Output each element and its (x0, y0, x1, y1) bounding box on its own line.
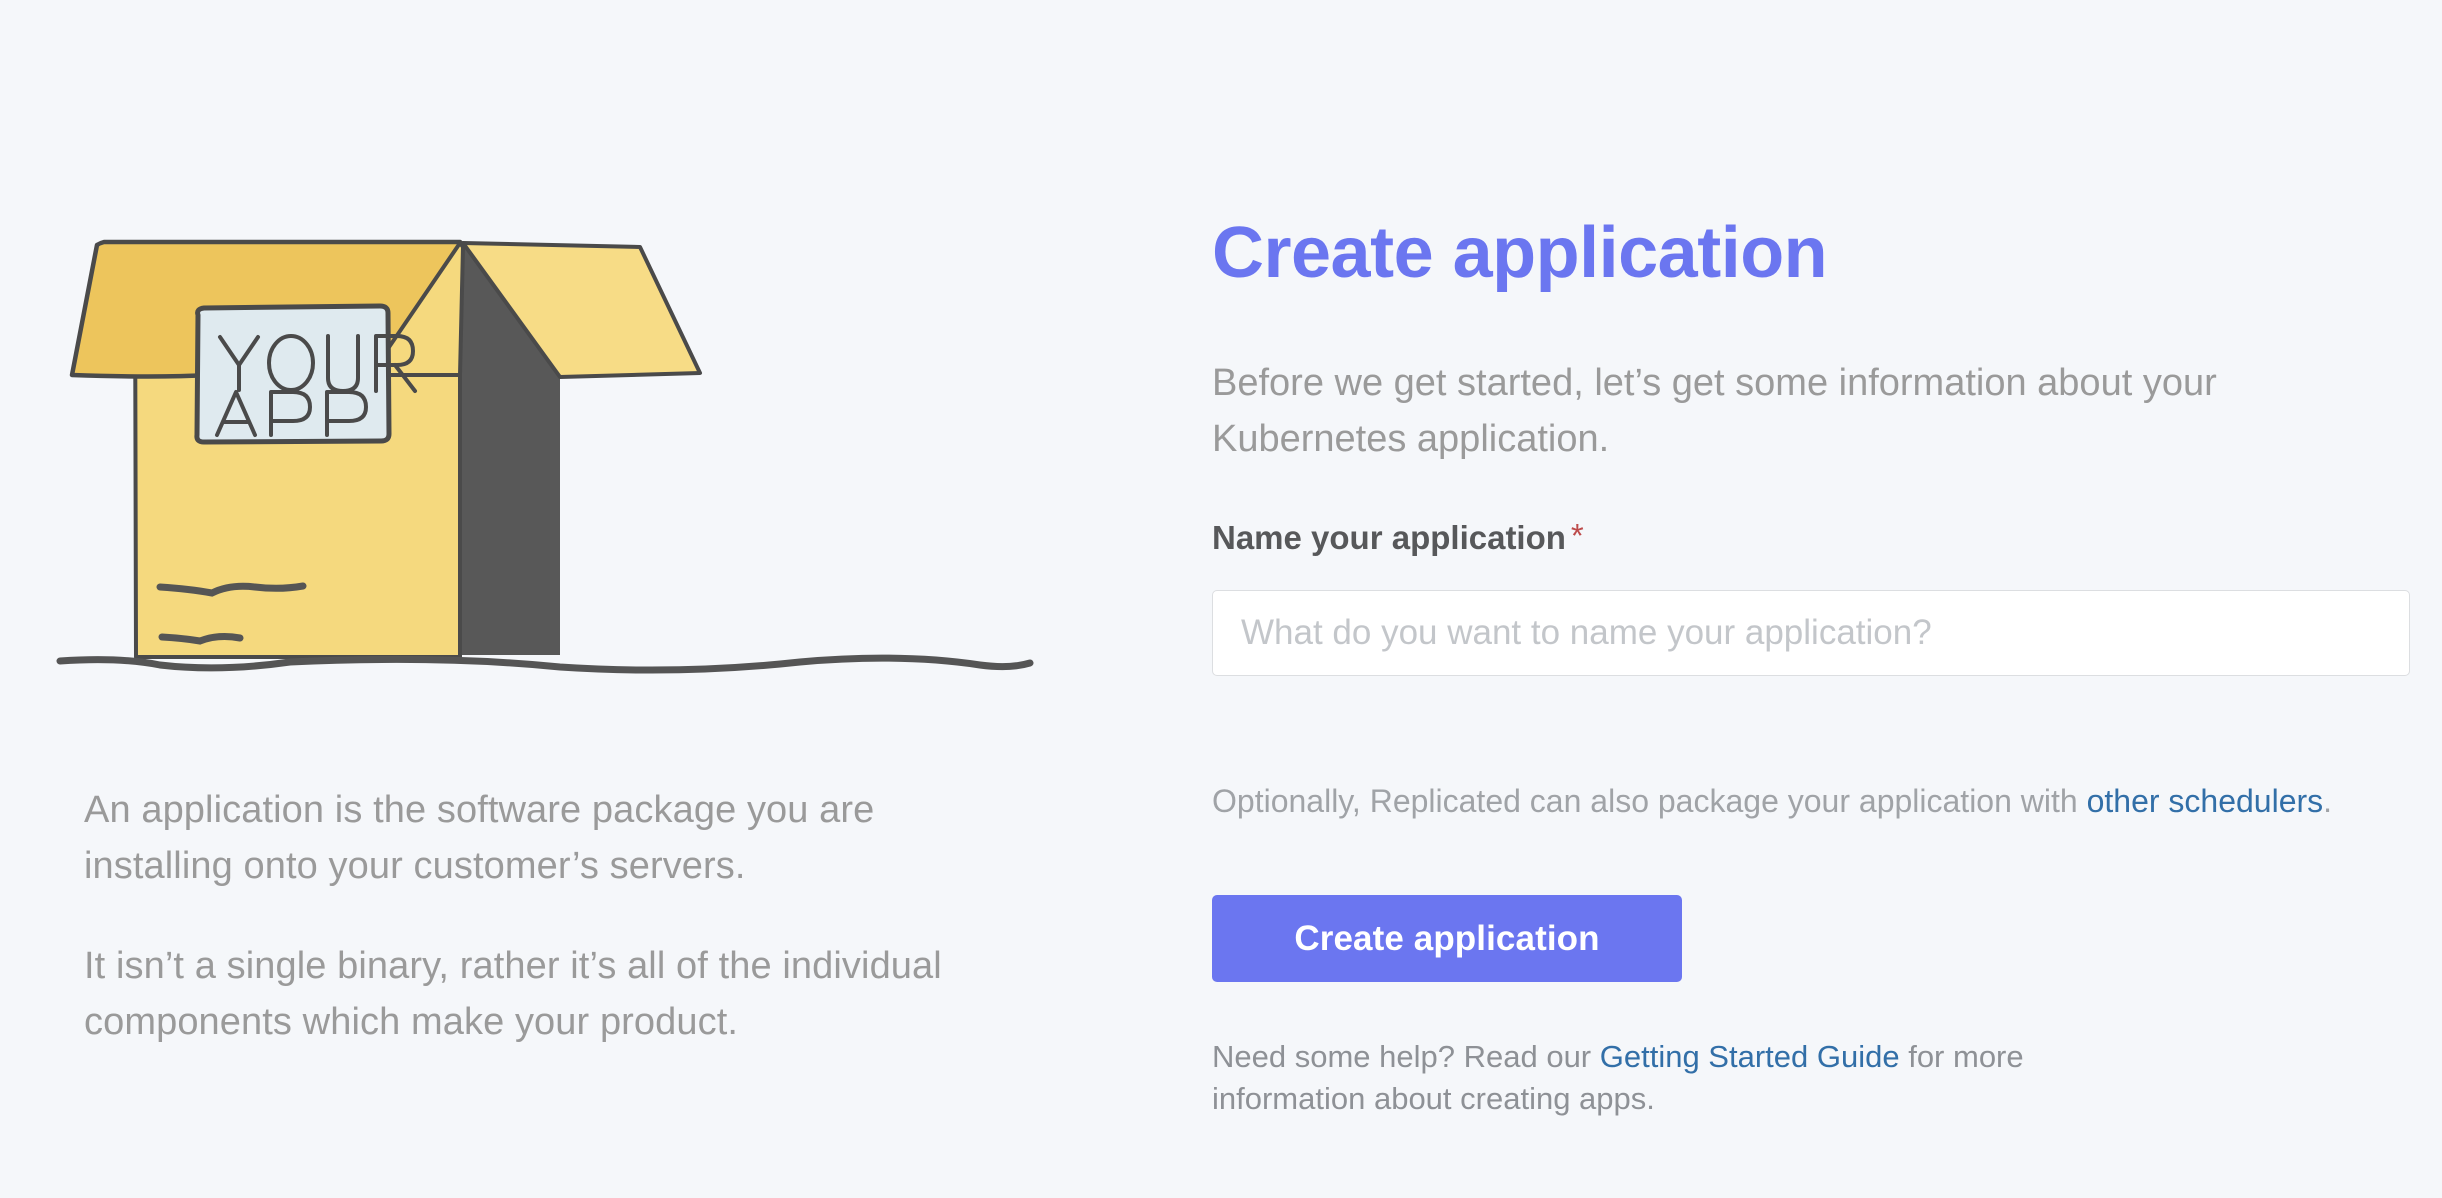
description-paragraph-1: An application is the software package y… (84, 782, 1014, 894)
name-field-label-text: Name your application (1212, 519, 1566, 556)
other-schedulers-link[interactable]: other schedulers (2087, 783, 2324, 819)
create-application-form-column: Create application Before we get started… (1212, 0, 2412, 1198)
optional-schedulers-note: Optionally, Replicated can also package … (1212, 780, 2332, 822)
create-application-page: An application is the software package y… (0, 0, 2442, 1198)
description-paragraph-2: It isn’t a single binary, rather it’s al… (84, 938, 1014, 1050)
help-note: Need some help? Read our Getting Started… (1212, 1036, 2112, 1120)
create-application-button[interactable]: Create application (1212, 895, 1682, 982)
left-description: An application is the software package y… (84, 782, 1014, 1050)
optional-note-suffix: . (2323, 783, 2332, 819)
ground-line (60, 658, 1030, 670)
help-note-prefix: Need some help? Read our (1212, 1039, 1600, 1074)
required-asterisk: * (1571, 517, 1584, 554)
left-info-column: An application is the software package y… (0, 0, 1150, 1198)
getting-started-guide-link[interactable]: Getting Started Guide (1600, 1039, 1900, 1074)
name-field-label: Name your application* (1212, 516, 1584, 558)
application-name-input[interactable] (1212, 590, 2410, 676)
page-title: Create application (1212, 207, 1827, 299)
cardboard-box-illustration (40, 185, 1040, 730)
intro-text: Before we get started, let’s get some in… (1212, 355, 2352, 467)
optional-note-prefix: Optionally, Replicated can also package … (1212, 783, 2087, 819)
